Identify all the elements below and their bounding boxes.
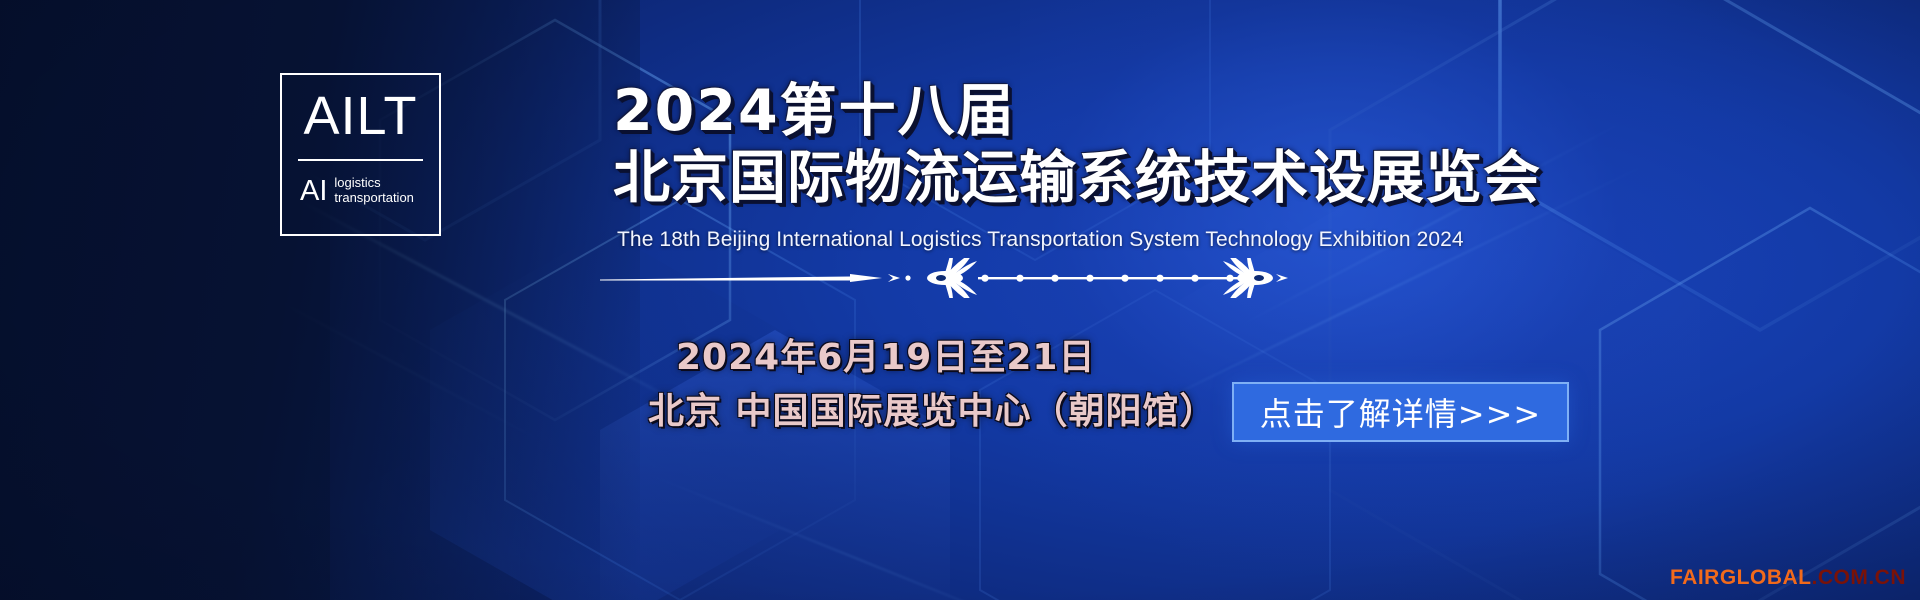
logo-divider-rule (298, 159, 423, 161)
flourish-divider-icon (600, 258, 1290, 298)
learn-more-label: 点击了解详情>>> (1260, 389, 1541, 435)
logo-words: logistics transportation (334, 175, 414, 205)
ailt-logo: AILT AI logistics transportation (280, 73, 441, 236)
site-watermark: FAIRGLOBAL.COM.CN (1670, 566, 1906, 590)
logo-subtext: AI logistics transportation (300, 175, 414, 205)
ornamental-divider (600, 258, 1290, 298)
learn-more-button[interactable]: 点击了解详情>>> (1232, 382, 1569, 442)
title-english: The 18th Beijing International Logistics… (617, 228, 1464, 252)
logo-ai-text: AI (300, 177, 327, 206)
watermark-brand: FAIRGLOBAL (1670, 566, 1812, 589)
watermark-tld: .COM.CN (1812, 566, 1907, 589)
title-line-2: 北京国际物流运输系统技术设展览会 (613, 132, 1541, 214)
event-date: 2024年6月19日至21日 (676, 328, 1095, 380)
event-venue: 北京 中国国际展览中心（朝阳馆） (648, 382, 1217, 434)
logo-word-transportation: transportation (334, 190, 414, 205)
logo-acronym: AILT (282, 89, 439, 143)
logo-word-logistics: logistics (334, 175, 414, 190)
exhibition-banner: AILT AI logistics transportation 2024第十八… (0, 0, 1920, 600)
